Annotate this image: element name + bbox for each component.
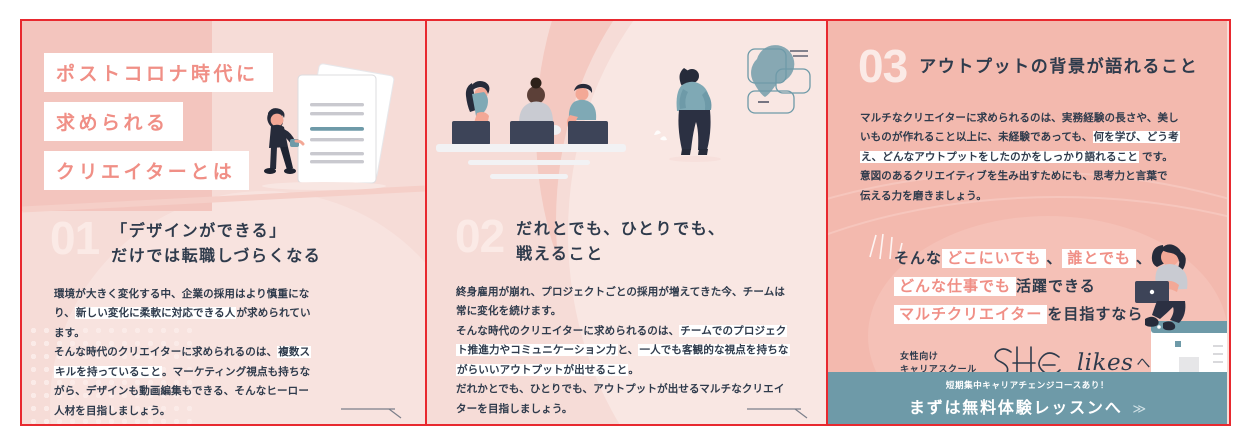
cta-line-3: マルチクリエイターを目指すなら [894, 301, 1152, 329]
cta-line-2: どんな仕事でも活躍できる [894, 273, 1152, 301]
cta-post: 、 [1136, 250, 1152, 267]
poster-frame: ポストコロナ時代に 求められる クリエイターとは 01 「デザインができる」 だ… [20, 19, 1231, 426]
next-arrow-panel2[interactable] [745, 405, 815, 421]
chevron-right-icon: ≫ [1133, 401, 1147, 417]
cta-highlight: どこにいても [942, 249, 1046, 268]
cta-post: を目指すなら [1047, 306, 1143, 323]
section-title: アウトプットの背景が語れること [919, 54, 1198, 80]
body-paragraph: 環境が大きく変化する中、企業の採用はより慎重になり、新しい変化に柔軟に対応できる… [54, 285, 344, 343]
body-paragraph: そんな時代のクリエイターに求められるのは、複数スキルを持っていること。マーケティ… [54, 343, 344, 421]
panel3-body-copy: マルチなクリエイターに求められるのは、実務経験の長さや、美しいものが作れること以… [860, 109, 1200, 206]
panel1-section-header: 01 「デザインができる」 だけでは転職しづらくなる [50, 217, 321, 270]
section-number-01: 01 [50, 217, 99, 261]
panel1-title: ポストコロナ時代に 求められる クリエイターとは [44, 53, 273, 200]
panel3-section-header: 03 アウトプットの背景が語れること [858, 45, 1198, 89]
section-number-03: 03 [858, 45, 907, 89]
illustration-woman-ui-cards [642, 37, 828, 197]
bar-small-text: 短期集中キャリアチェンジコースあり！ [946, 379, 1109, 391]
illustration-three-people-table [432, 47, 632, 197]
title-line-2: 求められる [44, 102, 183, 141]
body-paragraph: そんな時代のクリエイターに求められるのは、チームでのプロジェクト推進力やコミュニ… [456, 322, 796, 380]
section-title-line-1: だれとでも、ひとりでも、 [516, 218, 725, 243]
cta-post: 活躍できる [1016, 278, 1096, 295]
cta-line-1: そんなどこにいても、誰とでも、 [894, 245, 1152, 273]
body-paragraph: マルチなクリエイターに求められるのは、実務経験の長さや、美しいものが作れること以… [860, 109, 1200, 167]
panel-02: 02 だれとでも、ひとりでも、 戦えること 終身雇用が崩れ、プロジェクトごとの採… [425, 21, 828, 424]
cta-pre: そんな [894, 250, 942, 267]
panel-03: 03 アウトプットの背景が語れること マルチなクリエイターに求められるのは、実務… [828, 21, 1227, 424]
panel-01: ポストコロナ時代に 求められる クリエイターとは 01 「デザインができる」 だ… [22, 21, 425, 424]
cta-highlight: マルチクリエイター [894, 305, 1047, 324]
cta-mid: 、 [1046, 250, 1062, 267]
section-number-02: 02 [455, 215, 504, 259]
next-arrow-panel1[interactable] [339, 405, 409, 421]
title-line-3: クリエイターとは [44, 151, 249, 190]
section-title-line-2: 戦えること [516, 243, 725, 268]
body-paragraph: 終身雇用が崩れ、プロジェクトごとの採用が増えてきた今、チームは常に変化を続けます… [456, 283, 796, 322]
cta-highlight: 誰とでも [1062, 249, 1136, 268]
title-line-1: ポストコロナ時代に [44, 53, 273, 92]
cta-highlight: どんな仕事でも [894, 277, 1016, 296]
section-title-line-1: 「デザインができる」 [111, 220, 321, 245]
section-title-line-2: だけでは転職しづらくなる [111, 245, 321, 270]
illustration-businesswoman-documents [254, 59, 424, 209]
logo-sub-line-1: 女性向け [900, 350, 977, 364]
body-paragraph: 意図のあるクリエイティブを生み出すためにも、思考力と言葉で伝える力を磨きましょう… [860, 167, 1200, 206]
panel2-section-header: 02 だれとでも、ひとりでも、 戦えること [455, 215, 725, 268]
bottom-cta-bar[interactable]: 短期集中キャリアチェンジコースあり！ まずは無料体験レッスンへ ≫ [828, 372, 1227, 424]
panel3-cta-text: そんなどこにいても、誰とでも、 どんな仕事でも活躍できる マルチクリエイターを目… [894, 245, 1152, 328]
panel1-body-copy: 環境が大きく変化する中、企業の採用はより慎重になり、新しい変化に柔軟に対応できる… [54, 285, 344, 421]
bar-big-text: まずは無料体験レッスンへ [909, 394, 1123, 418]
logo-arrow: へ [1136, 353, 1150, 373]
panel2-body-copy: 終身雇用が崩れ、プロジェクトごとの採用が増えてきた今、チームは常に変化を続けます… [456, 283, 796, 419]
